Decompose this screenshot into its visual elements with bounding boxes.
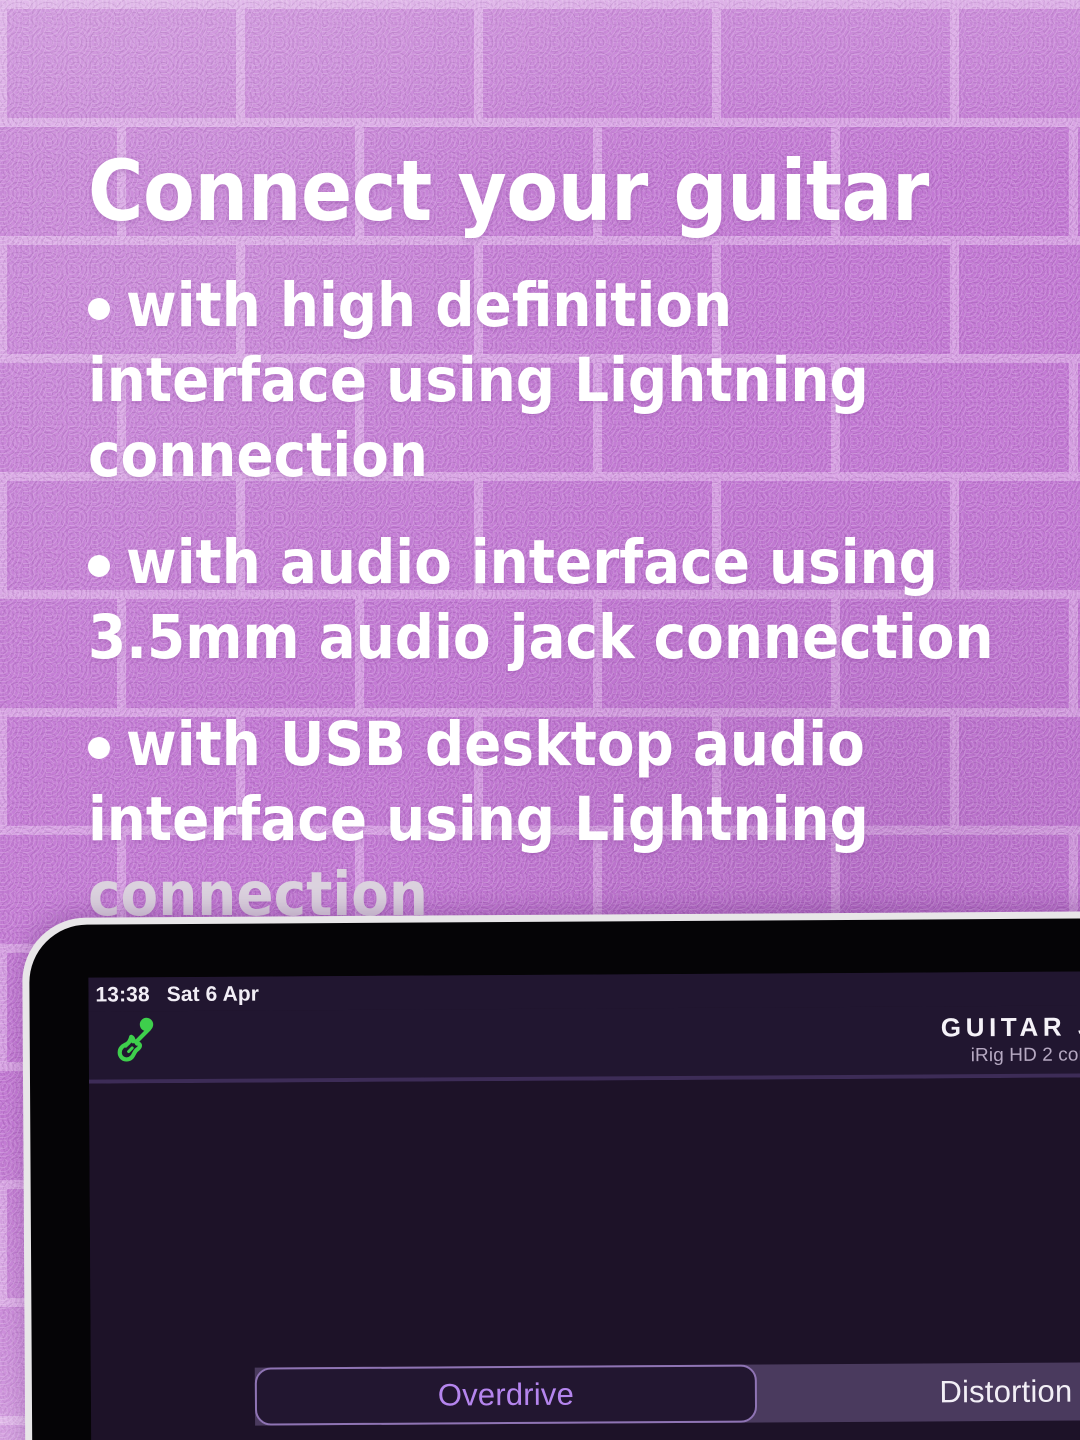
status-bar-clock: 13:38 [95,983,149,1007]
list-item: with high definition interface using Lig… [88,268,1026,493]
bullet-text: with high definition interface using Lig… [88,270,869,491]
app-content: Overdrive Distortion Overdrive Gain [89,1077,1080,1440]
guitar-icon[interactable] [103,1014,165,1076]
tablet-device-mockup: 13:38 Sat 6 Apr [22,911,1080,1440]
bullet-dot-icon [88,555,110,577]
segment-distortion[interactable]: Distortion [757,1361,1080,1422]
page-title: Connect your guitar [88,150,1026,232]
bullet-text: with audio interface using 3.5mm audio j… [88,527,994,673]
device-bezel: 13:38 Sat 6 Apr [29,918,1080,1440]
app-title: GUITAR JAM [941,1012,1080,1042]
promo-copy: Connect your guitar with high definition… [0,0,1080,964]
app-title-block: GUITAR JAM iRig HD 2 connected [941,1012,1080,1067]
feature-bullet-list: with high definition interface using Lig… [88,268,1026,932]
bullet-text: with USB desktop audio interface using L… [88,709,869,855]
list-item: with audio interface using 3.5mm audio j… [88,525,1026,675]
segment-overdrive-label: Overdrive [438,1377,574,1414]
list-item: with USB desktop audio interface using L… [88,707,1026,932]
app-header: GUITAR JAM iRig HD 2 connected [89,1005,1080,1084]
segment-distortion-label: Distortion [939,1374,1072,1411]
device-screen: 13:38 Sat 6 Apr [88,971,1080,1440]
promo-screenshot: Connect your guitar with high definition… [0,0,1080,1440]
status-bar-date: Sat 6 Apr [167,983,259,1008]
bullet-dot-icon [88,298,110,320]
segment-overdrive[interactable]: Overdrive [255,1365,757,1426]
bullet-dot-icon [88,737,110,759]
effect-type-segmented-control[interactable]: Overdrive Distortion [255,1361,1080,1425]
device-connection-status: iRig HD 2 connected [941,1045,1080,1068]
